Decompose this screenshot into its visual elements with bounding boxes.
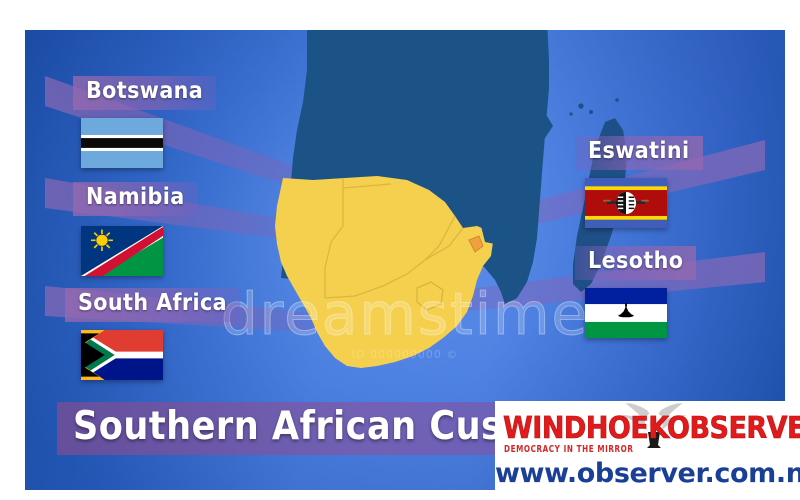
eswatini-flag-icon [585,178,667,228]
namibia-flag-icon [81,226,163,276]
small-island [569,112,572,115]
callout-label-botswana: Botswana [73,76,216,110]
screenshot-canvas: dreamstime ID 000000000 © Botswana Namib… [0,0,800,500]
logo-url[interactable]: www.observer.com.na [495,458,800,489]
small-island [615,98,619,102]
botswana-flag [81,118,163,168]
callout-label-namibia: Namibia [73,182,198,216]
callout-label-south-africa: South Africa [65,288,240,322]
namibia-flag [81,226,163,276]
windhoek-observer-logo[interactable]: WINDHOEK OBSERVER DEMOCRACY IN THE MIRRO… [495,401,800,500]
callout-eswatini[interactable]: Eswatini [575,136,703,170]
logo-word-observer: OBSERVER [667,411,800,446]
south-africa-flag-icon [81,330,163,380]
lesotho-flag-icon [585,288,667,338]
small-island [589,110,593,114]
callout-label-eswatini: Eswatini [575,136,703,170]
logo-word-windhoek: WINDHOEK [503,411,669,446]
callout-botswana[interactable]: Botswana [73,76,216,110]
lesotho-flag [585,288,667,338]
callout-namibia[interactable]: Namibia [73,182,198,216]
callout-south-africa[interactable]: South Africa [65,288,240,322]
logo-tagline: DEMOCRACY IN THE MIRROR [504,443,634,454]
south-africa-flag [81,330,163,380]
botswana-flag-icon [81,118,163,168]
eswatini-flag [585,178,667,228]
callout-label-lesotho: Lesotho [575,246,696,280]
sun-emblem [91,230,113,251]
callout-lesotho[interactable]: Lesotho [575,246,696,280]
small-island [578,103,583,108]
